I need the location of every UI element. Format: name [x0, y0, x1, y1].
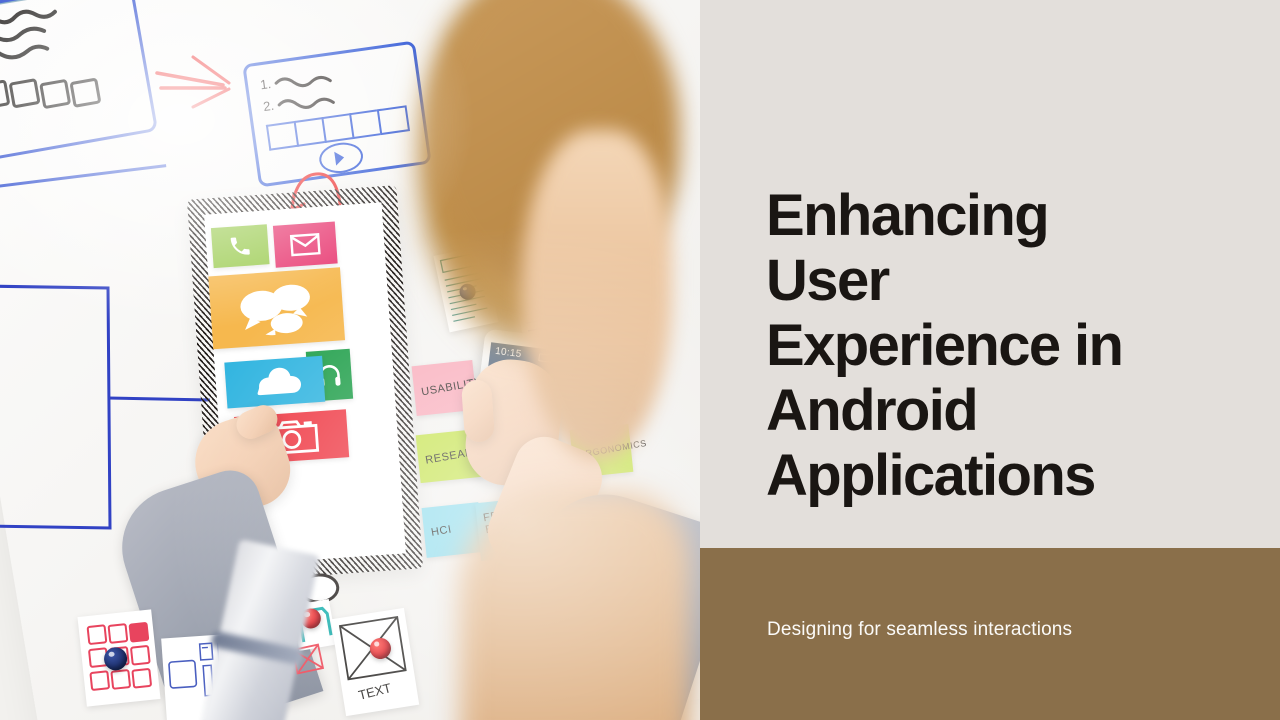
- tile-mail: [273, 222, 338, 268]
- tile-cloud: [224, 356, 325, 409]
- subtitle-band: Designing for seamless interactions: [700, 548, 1280, 720]
- person-shoulder: [460, 490, 690, 720]
- page-subtitle: Designing for seamless interactions: [767, 619, 1072, 641]
- sketch-note-1: 1.: [259, 76, 272, 92]
- slide-root: 1. 2.: [0, 0, 1280, 720]
- sticky-label: HCI: [430, 523, 453, 539]
- whiteboard-sketch-player: 1. 2.: [242, 40, 432, 187]
- text-panel: Enhancing User Experience in Android App…: [700, 0, 1280, 720]
- tile-chat: [208, 267, 345, 349]
- phone-icon: [226, 233, 254, 259]
- card-sketch-text: TEXT: [331, 608, 419, 716]
- cloud-icon: [246, 364, 304, 400]
- hero-photo: 1. 2.: [0, 0, 700, 720]
- chat-bubbles-icon: [232, 279, 321, 337]
- text-card: TEXT: [331, 608, 419, 716]
- sketch-note-2: 2.: [262, 98, 275, 114]
- text-card-label: TEXT: [357, 680, 393, 703]
- grid-card: [77, 609, 160, 706]
- sketched-phone-tiles: [200, 206, 386, 219]
- page-title: Enhancing User Experience in Android App…: [766, 184, 1236, 509]
- envelope-icon: [290, 233, 321, 257]
- tile-phone: [211, 224, 270, 268]
- person-face: [522, 130, 672, 460]
